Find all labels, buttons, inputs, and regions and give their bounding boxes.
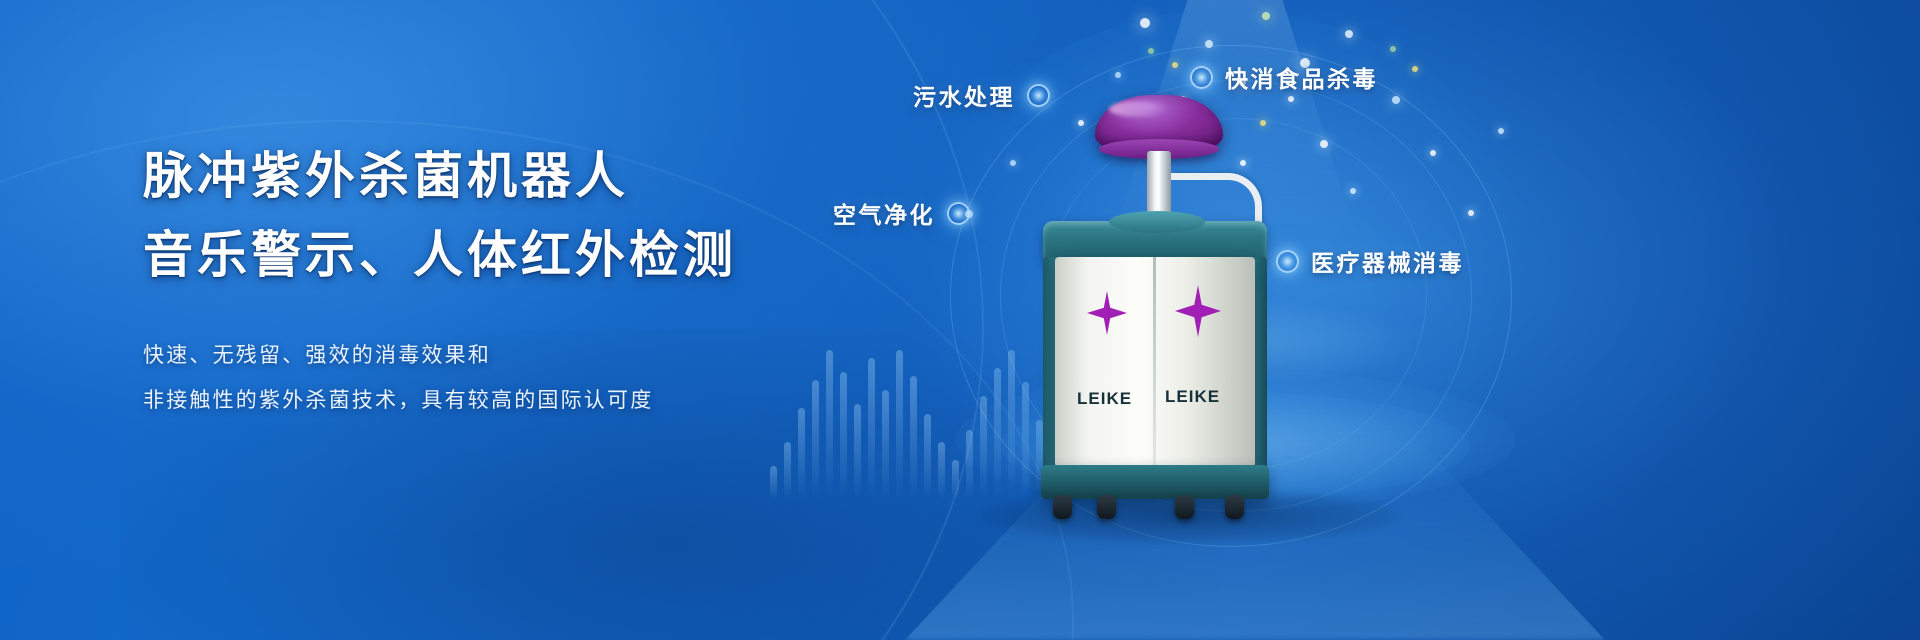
brand-label-right: LEIKE	[1165, 387, 1220, 407]
page-title-line-1: 脉冲紫外杀菌机器人	[143, 140, 903, 211]
robot-wheel	[1175, 495, 1194, 519]
equalizer-bar	[910, 376, 917, 500]
equalizer-bar	[784, 442, 791, 500]
equalizer-bar	[924, 414, 931, 500]
callout-medical: 医疗器械消毒	[1276, 244, 1464, 278]
callout-wastewater: 污水处理	[913, 78, 1050, 112]
page-title-line-2: 音乐警示、人体红外检测	[143, 219, 903, 290]
robot-wheel	[1097, 495, 1116, 519]
robot-wheel	[1053, 495, 1072, 519]
equalizer-bar	[952, 460, 959, 500]
callout-wastewater-label: 污水处理	[913, 78, 1015, 112]
sparkle-particle	[1498, 128, 1504, 134]
node-dot-icon	[1276, 250, 1299, 273]
robot-panel-divider	[1153, 257, 1156, 467]
hero-subtext-line-1: 快速、无残留、强效的消毒效果和	[143, 334, 903, 377]
equalizer-bar	[770, 466, 777, 500]
callout-medical-label: 医疗器械消毒	[1311, 244, 1464, 278]
hero-banner: LEIKE LEIKE 污水处理 快消食品杀毒 空气净化 医疗器械消毒 脉冲紫外…	[0, 0, 1920, 640]
hero-subtext-line-2: 非接触性的紫外杀菌技术，具有较高的国际认可度	[143, 379, 903, 422]
hero-copy-block: 脉冲紫外杀菌机器人 音乐警示、人体红外检测 快速、无残留、强效的消毒效果和 非接…	[143, 140, 903, 422]
brand-label-left: LEIKE	[1077, 389, 1132, 409]
uv-robot-illustration: LEIKE LEIKE	[1035, 95, 1275, 515]
node-dot-icon	[947, 202, 970, 225]
robot-base	[1041, 465, 1269, 499]
equalizer-bar	[938, 442, 945, 500]
callout-food-label: 快消食品杀毒	[1225, 60, 1378, 94]
node-dot-icon	[1027, 84, 1050, 107]
robot-wheel	[1225, 495, 1244, 519]
callout-food: 快消食品杀毒	[1190, 60, 1378, 94]
node-dot-icon	[1190, 66, 1213, 89]
